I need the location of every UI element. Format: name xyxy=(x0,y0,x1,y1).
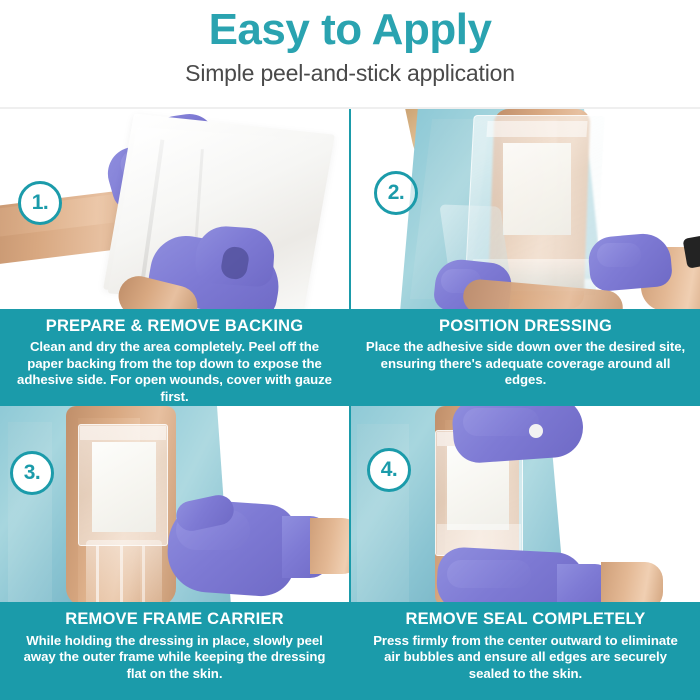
page-header: Easy to Apply Simple peel-and-stick appl… xyxy=(0,0,700,109)
step-panel-2[interactable]: 2. POSITION DRESSING Place the adhesive … xyxy=(351,109,700,404)
step-1-badge: 1. xyxy=(18,181,62,225)
step-4-body: Press firmly from the center outward to … xyxy=(359,633,692,683)
step-2-body: Place the adhesive side down over the de… xyxy=(359,339,692,389)
step-4-badge: 4. xyxy=(367,448,411,492)
step-1-caption: PREPARE & REMOVE BACKING Clean and dry t… xyxy=(0,309,349,404)
step-3-badge: 3. xyxy=(10,451,54,495)
step-4-photo: 4. xyxy=(351,406,700,603)
step-3-body: While holding the dressing in place, slo… xyxy=(8,633,341,683)
step-1-body: Clean and dry the area completely. Peel … xyxy=(8,339,341,403)
step-panel-3[interactable]: 3. REMOVE FRAME CARRIER While holding th… xyxy=(0,406,349,700)
step-panel-1[interactable]: 1. PREPARE & REMOVE BACKING Clean and dr… xyxy=(0,109,349,404)
step-2-badge: 2. xyxy=(374,171,418,215)
page-title: Easy to Apply xyxy=(209,4,492,56)
step-2-photo: 2. xyxy=(351,109,700,309)
step-4-scene xyxy=(351,406,700,603)
step-4-title: REMOVE SEAL COMPLETELY xyxy=(359,609,692,630)
step-2-caption: POSITION DRESSING Place the adhesive sid… xyxy=(351,309,700,404)
step-1-photo: 1. xyxy=(0,109,349,309)
step-3-title: REMOVE FRAME CARRIER xyxy=(8,609,341,630)
step-panel-4[interactable]: 4. REMOVE SEAL COMPLETELY Press firmly f… xyxy=(351,406,700,700)
step-4-caption: REMOVE SEAL COMPLETELY Press firmly from… xyxy=(351,602,700,700)
infographic-page: Easy to Apply Simple peel-and-stick appl… xyxy=(0,0,700,700)
step-3-scene xyxy=(0,406,349,603)
steps-grid: 1. PREPARE & REMOVE BACKING Clean and dr… xyxy=(0,109,700,700)
step-3-photo: 3. xyxy=(0,406,349,603)
page-subtitle: Simple peel-and-stick application xyxy=(185,60,515,88)
step-1-title: PREPARE & REMOVE BACKING xyxy=(8,316,341,337)
step-3-caption: REMOVE FRAME CARRIER While holding the d… xyxy=(0,602,349,700)
step-2-title: POSITION DRESSING xyxy=(359,316,692,337)
